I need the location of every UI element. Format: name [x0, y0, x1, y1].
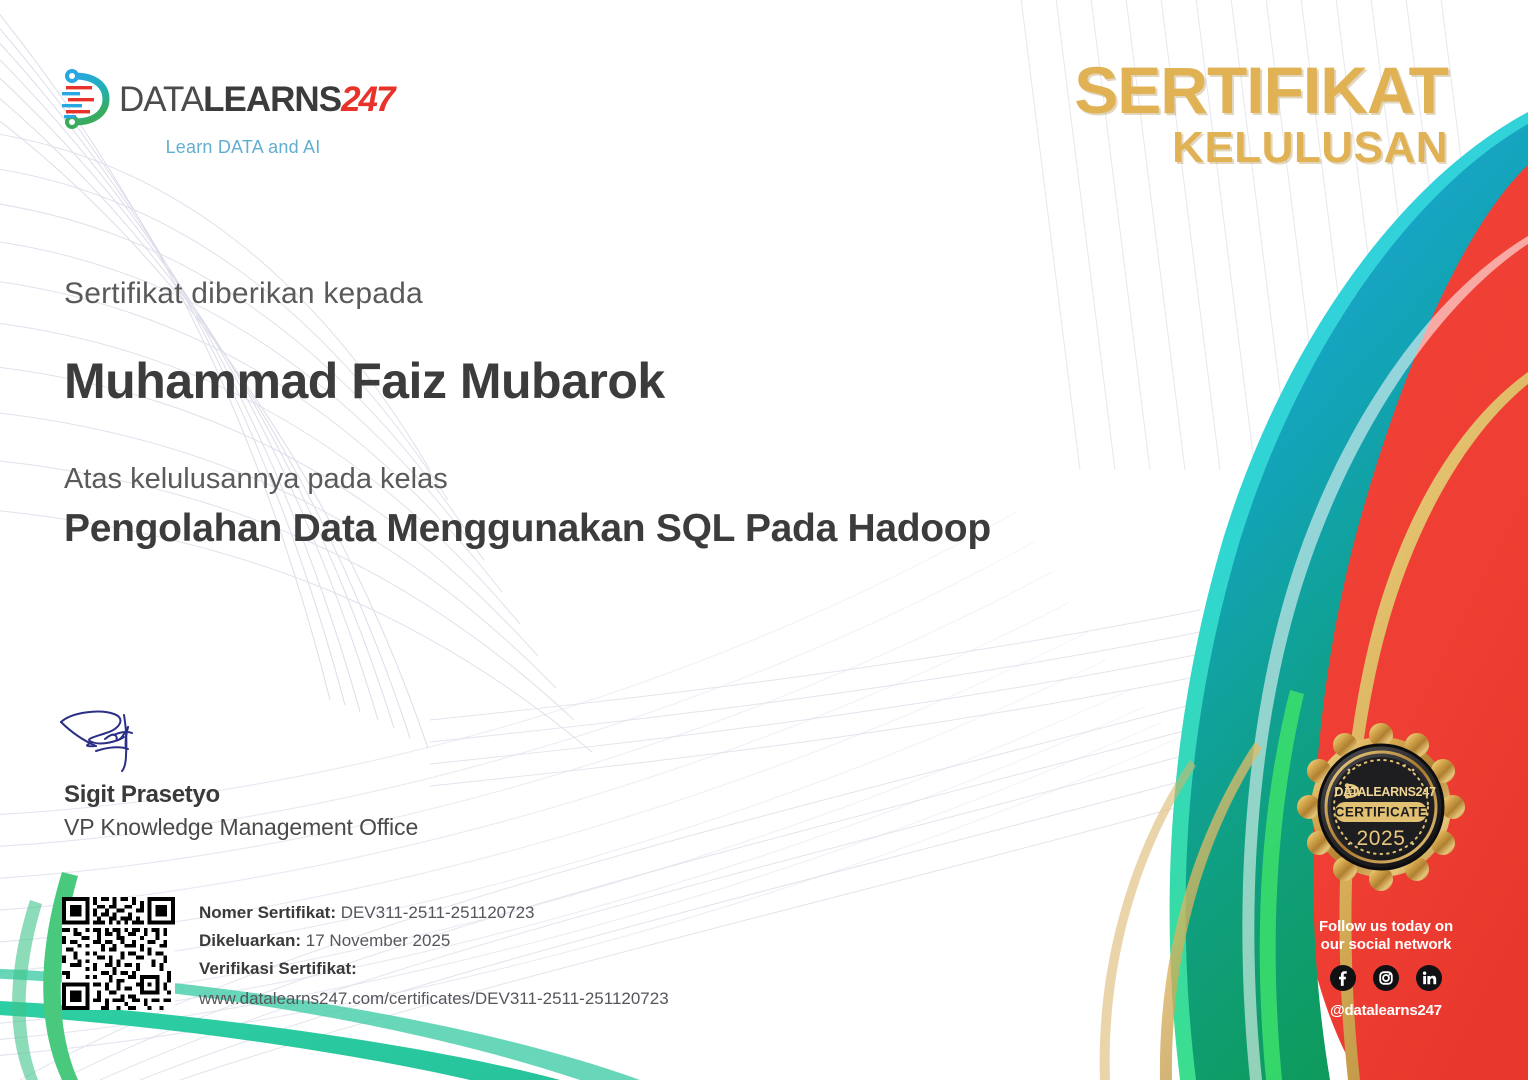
seal-word: CERTIFICATE: [1335, 805, 1428, 820]
social-icon-row: [1286, 965, 1486, 991]
signature-block: Sigit Prasetyo VP Knowledge Management O…: [64, 705, 418, 841]
certificate-page: DATALEARNS247 Learn DATA and AI SERTIFIK…: [0, 0, 1528, 1080]
certificate-number-label: Nomer Sertifikat:: [199, 903, 336, 922]
signer-role: VP Knowledge Management Office: [64, 814, 418, 841]
logo-text-learns: LEARNS: [203, 80, 341, 119]
social-headline: Follow us today on our social network: [1286, 918, 1486, 955]
issued-date-label: Dikeluarkan:: [199, 931, 301, 950]
certificate-number-line: Nomer Sertifikat: DEV311-2511-251120723: [199, 903, 669, 923]
verify-line: Verifikasi Sertifikat:: [199, 959, 669, 979]
qr-code[interactable]: [62, 897, 175, 1010]
course-title: Pengolahan Data Menggunakan SQL Pada Had…: [64, 507, 991, 551]
verify-label: Verifikasi Sertifikat:: [199, 959, 357, 978]
certificate-title: SERTIFIKAT: [1074, 58, 1448, 123]
certificate-number-value: DEV311-2511-251120723: [341, 903, 535, 922]
brand-tagline: Learn DATA and AI: [58, 137, 388, 158]
instagram-icon[interactable]: [1373, 965, 1399, 991]
seal-brand: DATALEARNS247: [1334, 785, 1436, 799]
issued-date-line: Dikeluarkan: 17 November 2025: [199, 931, 669, 951]
awarded-to-label: Sertifikat diberikan kepada: [64, 277, 423, 311]
facebook-icon[interactable]: [1330, 965, 1356, 991]
certificate-subtitle: KELULUSAN: [1074, 125, 1448, 171]
recipient-name: Muhammad Faiz Mubarok: [64, 352, 665, 410]
course-label: Atas kelulusannya pada kelas: [64, 463, 448, 496]
certificate-details: Nomer Sertifikat: DEV311-2511-251120723 …: [199, 903, 669, 1009]
social-headline-line2: our social network: [1286, 936, 1486, 954]
seal-year: 2025: [1356, 827, 1405, 850]
signer-name: Sigit Prasetyo: [64, 781, 418, 809]
handwritten-signature: [58, 705, 248, 785]
certificate-seal: DATALEARNS247 CERTIFICATE 2025: [1297, 723, 1465, 891]
certificate-title-block: SERTIFIKAT KELULUSAN: [1074, 58, 1448, 171]
datalearns-d-icon: [58, 68, 110, 130]
social-headline-line1: Follow us today on: [1286, 918, 1486, 936]
social-handle: @datalearns247: [1286, 1002, 1486, 1019]
linkedin-icon[interactable]: [1416, 965, 1442, 991]
verify-url[interactable]: www.datalearns247.com/certificates/DEV31…: [199, 989, 669, 1009]
brand-logo: DATALEARNS247 Learn DATA and AI: [58, 68, 388, 158]
logo-text-247: 247: [341, 80, 393, 119]
logo-text-data: DATA: [119, 80, 203, 119]
social-block: Follow us today on our social network @d…: [1286, 918, 1486, 1019]
issued-date-value: 17 November 2025: [306, 931, 451, 950]
